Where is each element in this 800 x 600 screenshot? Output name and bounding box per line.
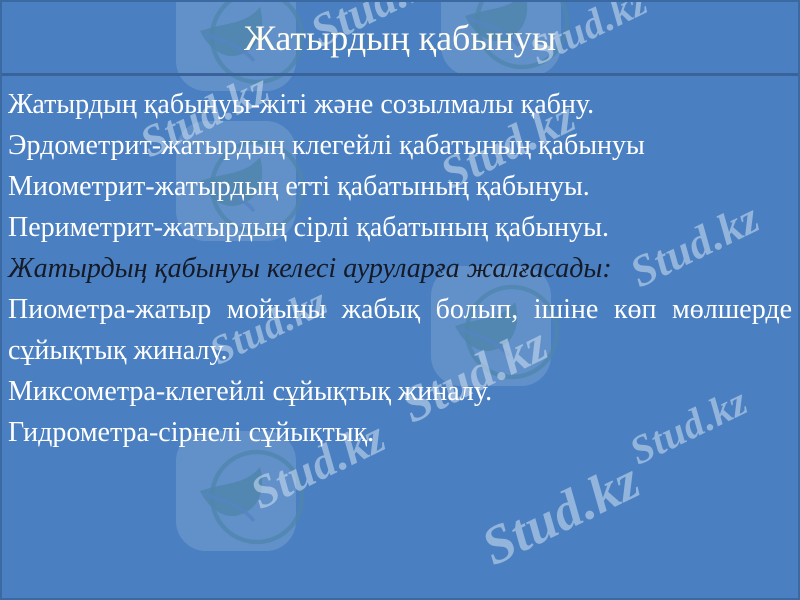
body-line-myometritis: Миометрит-жатырдың етті қабатының қабыну… <box>8 166 792 207</box>
title-band: Жатырдың қабынуы <box>2 2 798 76</box>
body-line-pyometra: Пиометра-жатыр мойыны жабық болып, ішіне… <box>8 289 792 371</box>
body-line-definition: Жатырдың қабынуы-жіті және созылмалы қаб… <box>8 84 792 125</box>
body-line-mixometra: Миксометра-клегейлі сұйықтық жиналу. <box>8 371 792 412</box>
slide-body: Жатырдың қабынуы-жіті және созылмалы қаб… <box>2 76 798 453</box>
body-line-hydrometra: Гидрометра-сірнелі сұйықтық. <box>8 412 792 453</box>
body-line-continues-heading: Жатырдың қабынуы келесі ауруларға жалғас… <box>8 248 792 289</box>
body-line-endometritis: Эрдометрит-жатырдың клегейлі қабатының қ… <box>8 125 792 166</box>
body-line-perimetritis: Периметрит-жатырдың сірлі қабатының қабы… <box>8 207 792 248</box>
watermark-text: Stud.kz <box>472 449 649 578</box>
slide: Stud.kzStud.kzStud.kzStud.kzStud.kzStud.… <box>0 0 800 600</box>
page-title: Жатырдың қабынуы <box>220 20 580 58</box>
